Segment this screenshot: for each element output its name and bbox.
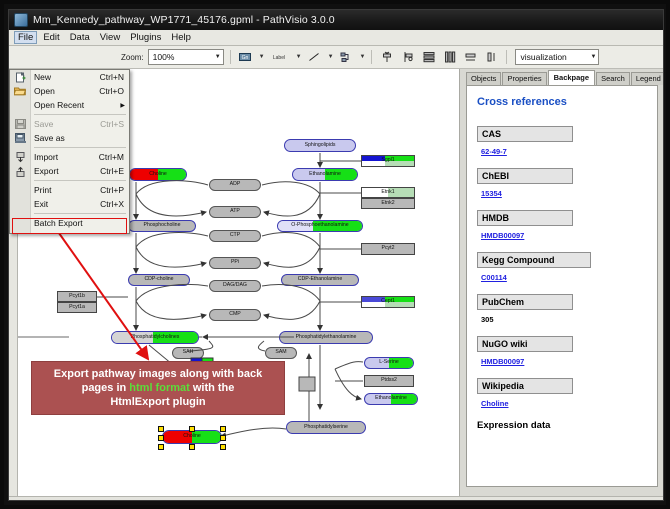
menu-item-print-accel: Ctrl+P [100,185,124,195]
interaction-caret-icon[interactable]: ▼ [360,54,366,60]
menu-help[interactable]: Help [167,31,195,44]
selection-handle-w[interactable] [158,435,164,441]
menu-item-export-label: Export [34,166,59,176]
common-height-icon[interactable] [483,49,500,66]
interaction-icon[interactable] [338,49,355,66]
line-caret-icon[interactable]: ▼ [328,54,334,60]
tab-properties[interactable]: Properties [502,72,546,85]
pathvisio-window: Mm_Kennedy_pathway_WP1771_45176.gpml - P… [8,9,664,501]
label-icon[interactable]: Label [269,49,291,66]
tab-search[interactable]: Search [596,72,630,85]
gene-etnk1[interactable]: Etnk1 [361,187,415,198]
menu-edit[interactable]: Edit [39,31,63,44]
callout-line2-a: pages in [82,382,130,394]
menu-plugins[interactable]: Plugins [126,31,165,44]
xref-value-wikipedia[interactable]: Choline [481,399,647,408]
node-choline-selected[interactable]: Choline [162,430,222,444]
callout-line2-b: with the [190,382,235,394]
svg-text:Gn: Gn [242,55,249,61]
node-choline[interactable]: Choline [129,168,187,181]
menu-item-open-recent[interactable]: Open Recent ▶ [10,98,129,112]
xref-value-pubchem: 305 [481,315,647,324]
xref-source-kegg: Kegg Compound [477,252,591,268]
menu-bar: File Edit Data View Plugins Help [9,30,663,46]
export-icon [13,165,27,177]
xref-source-wikipedia: Wikipedia [477,378,573,394]
menu-item-save-accel: Ctrl+S [100,119,124,129]
menu-item-export-accel: Ctrl+E [100,166,124,176]
toolbar-divider-3 [506,50,507,64]
annotation-callout: Export pathway images along with back pa… [31,361,285,415]
menu-item-new-accel: Ctrl+N [100,72,124,82]
menu-item-save-label: Save [34,119,53,129]
callout-line3: HtmlExport plugin [110,396,205,408]
menu-file[interactable]: File [14,31,37,44]
callout-line1: Export pathway images along with back [54,368,262,380]
xref-source-hmdb: HMDB [477,210,573,226]
menu-item-save[interactable]: Save Ctrl+S [10,117,129,131]
xref-value-nugo[interactable]: HMDB00097 [481,357,647,366]
gene-product-caret-icon[interactable]: ▼ [259,54,265,60]
folder-open-icon [13,85,27,97]
menu-item-save-as-label: Save as [34,133,65,143]
xref-source-cas: CAS [477,126,573,142]
chevron-down-icon: ▼ [215,54,221,60]
selection-handle-n[interactable] [189,426,195,432]
menu-item-import-label: Import [34,152,58,162]
selection-handle-se[interactable] [220,444,226,450]
menu-item-save-as[interactable]: Save as [10,131,129,145]
menu-item-print[interactable]: Print Ctrl+P [10,183,129,197]
backpage-pane[interactable]: Cross references CAS 62-49-7 ChEBI 15354… [466,85,658,487]
selection-handle-ne[interactable] [220,426,226,432]
menu-item-open-accel: Ctrl+O [99,86,124,96]
visualization-combo[interactable]: visualization ▼ [515,49,599,65]
selection-handle-sw[interactable] [158,444,164,450]
expression-data-title: Expression data [477,420,647,431]
import-icon [13,151,27,163]
chevron-down-icon-2: ▼ [591,54,597,60]
zoom-label: Zoom: [121,53,144,62]
menu-item-exit-label: Exit [34,199,48,209]
selection-handle-e[interactable] [220,435,226,441]
zoom-combo[interactable]: 100% ▼ [148,49,224,65]
save-as-icon [13,132,27,144]
common-width-icon[interactable] [462,49,479,66]
align-center-icon[interactable] [378,49,395,66]
toolbar-divider-2 [371,50,372,64]
menu-separator-1 [34,114,126,115]
cross-references-title: Cross references [477,96,647,108]
menu-item-open[interactable]: Open Ctrl+O [10,84,129,98]
align-left-icon[interactable] [399,49,416,66]
xref-source-chebi: ChEBI [477,168,573,184]
pathvisio-icon [14,13,28,27]
menu-view[interactable]: View [96,31,124,44]
menu-item-import[interactable]: Import Ctrl+M [10,150,129,164]
save-icon [13,118,27,130]
menu-item-exit-accel: Ctrl+X [100,199,124,209]
zoom-value: 100% [153,52,175,62]
menu-item-exit[interactable]: Exit Ctrl+X [10,197,129,211]
menu-item-new[interactable]: New Ctrl+N [10,70,129,84]
gene-product-icon[interactable]: Gn [237,49,254,66]
toolbar-divider [230,50,231,64]
visualization-value: visualization [520,52,566,62]
title-bar: Mm_Kennedy_pathway_WP1771_45176.gpml - P… [9,10,663,30]
new-file-icon [13,71,27,83]
menu-data[interactable]: Data [66,31,94,44]
screenshot-frame: Mm_Kennedy_pathway_WP1771_45176.gpml - P… [0,0,670,509]
gene-cept1[interactable]: Cept1 [361,296,415,308]
xref-value-cas[interactable]: 62-49-7 [481,147,647,156]
selection-handle-nw[interactable] [158,426,164,432]
label-caret-icon[interactable]: ▼ [296,54,302,60]
menu-item-print-label: Print [34,185,51,195]
window-title: Mm_Kennedy_pathway_WP1771_45176.gpml - P… [33,14,335,26]
menu-item-batch-export[interactable]: Batch Export [10,216,129,230]
xref-source-pubchem: PubChem [477,294,573,310]
tab-objects[interactable]: Objects [466,72,501,85]
tab-legend[interactable]: Legend [631,72,664,85]
menu-item-open-label: Open [34,86,55,96]
tab-backpage[interactable]: Backpage [548,70,595,85]
menu-item-import-accel: Ctrl+M [99,152,124,162]
menu-item-export[interactable]: Export Ctrl+E [10,164,129,178]
callout-highlight: html format [129,382,190,394]
line-icon[interactable] [306,49,323,66]
xref-value-kegg[interactable]: C00114 [481,273,647,282]
node-phosphatidylcholines[interactable]: Phosphatidylcholines [111,331,199,344]
menu-item-new-label: New [34,72,51,82]
file-menu-popup: New Ctrl+N Open Ctrl+O Open Recent ▶ [9,69,130,234]
backpage-content: Cross references CAS 62-49-7 ChEBI 15354… [467,86,657,431]
distribute-vertical-icon[interactable] [420,49,437,66]
menu-separator-3 [34,180,126,181]
selection-handle-s[interactable] [189,444,195,450]
xref-source-nugo: NuGO wiki [477,336,573,352]
node-o-phosphoethanolamine[interactable]: O-Phosphoethanolamine [277,220,363,232]
svg-text:Label: Label [273,55,285,61]
pathway-canvas[interactable]: Sphingolipids Choline Ethanolamine ADP A… [9,69,460,496]
side-panel-tabs: Objects Properties Backpage Search Legen… [460,69,663,85]
menu-item-batch-export-label: Batch Export [34,218,83,228]
main-body: Sphingolipids Choline Ethanolamine ADP A… [9,69,663,496]
distribute-horizontal-icon[interactable] [441,49,458,66]
xref-value-chebi[interactable]: 15354 [481,189,647,198]
menu-item-open-recent-label: Open Recent [34,100,84,110]
side-panel: Objects Properties Backpage Search Legen… [460,69,663,496]
submenu-arrow-icon: ▶ [120,102,125,109]
toolbar: Zoom: 100% ▼ Gn ▼ Label ▼ ▼ ▼ [9,46,663,69]
menu-separator-4 [34,213,126,214]
menu-separator-2 [34,147,126,148]
status-bar: | Gene database: ...m_Derby_20120602.bri… [9,496,663,501]
gene-sgpl1[interactable]: Sgpl1 [361,155,415,167]
xref-value-hmdb[interactable]: HMDB00097 [481,231,647,240]
